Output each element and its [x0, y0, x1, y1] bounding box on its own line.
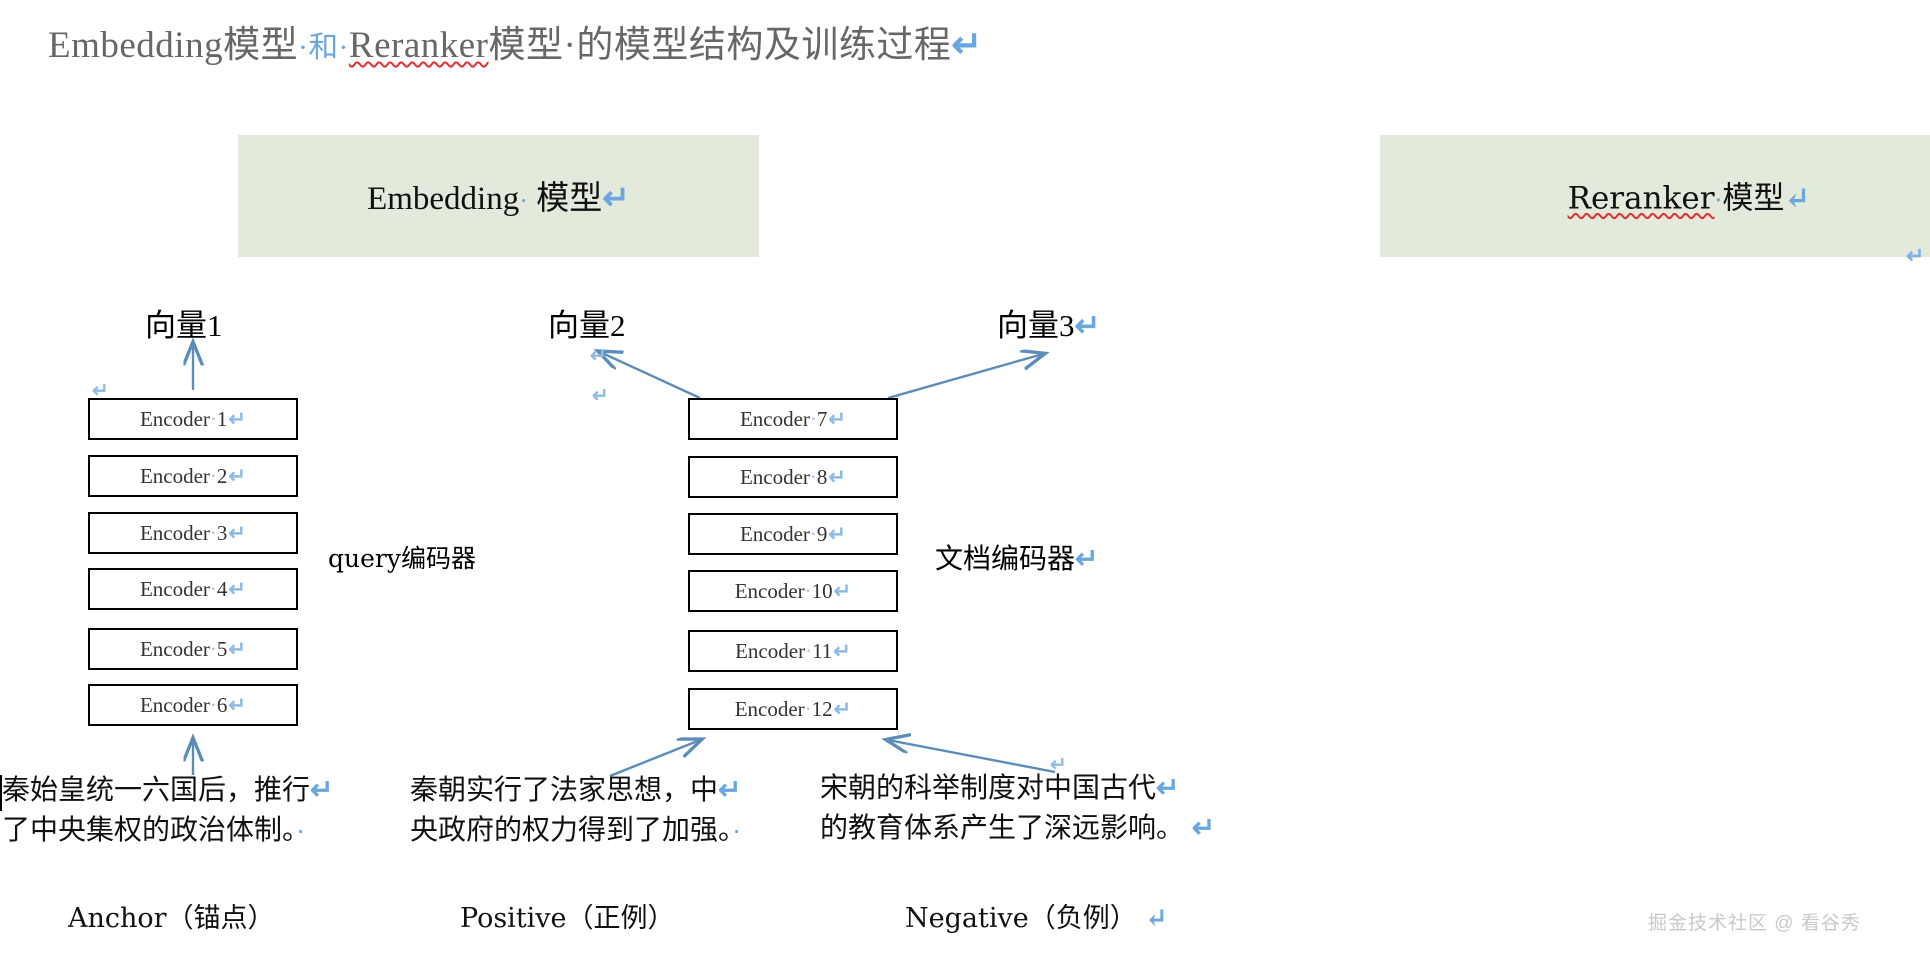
- stray-pilcrow-icon-c: ↵: [592, 383, 609, 408]
- encoder-8-num: 8: [817, 465, 828, 490]
- role-label-negative: Negative（负例） ↵: [905, 896, 1168, 935]
- reranker-trailing-pilcrow-icon: ↵: [1906, 243, 1924, 269]
- title-misspelled-word: Reranker: [349, 25, 489, 66]
- encoder-11-label: Encoder: [735, 639, 805, 664]
- watermark: 掘金技术社区 @ 看谷秀: [1648, 908, 1861, 935]
- doc-encoder-caption: 文档编码器↵: [935, 537, 1098, 577]
- reranker-name: Reranker: [1568, 181, 1715, 217]
- encoder-block-12[interactable]: Encoder·12↵: [688, 688, 898, 730]
- encoder-block-8[interactable]: Encoder·8↵: [688, 456, 898, 498]
- encoder-11-sep: ·: [805, 639, 812, 664]
- encoder-12-num: 12: [812, 697, 833, 722]
- encoder-10-label: Encoder: [735, 579, 805, 604]
- encoder-1-pilcrow-icon: ↵: [228, 407, 246, 432]
- positive-line-1-pilcrow-icon: ↵: [718, 774, 741, 805]
- vector-2-text: 向量2: [548, 308, 626, 343]
- embedding-model-panel: Embedding· 模型↵: [238, 135, 759, 257]
- anchor-line-1-pilcrow-icon: ↵: [310, 774, 333, 805]
- role-negative-pilcrow-icon: ↵: [1145, 903, 1168, 934]
- doc-encoder-caption-pilcrow-icon: ↵: [1075, 544, 1098, 575]
- encoder-block-3[interactable]: Encoder·3↵: [88, 512, 298, 554]
- embedding-model-label: Embedding· 模型↵: [238, 171, 759, 219]
- encoder-1-sep: ·: [210, 407, 217, 432]
- positive-line-2: 央政府的权力得到了加强。·: [410, 810, 741, 850]
- embedding-suffix: 模型: [536, 181, 602, 217]
- embedding-pilcrow-icon: ↵: [602, 181, 630, 217]
- anchor-line-2-space-icon: ·: [296, 814, 305, 845]
- encoder-12-sep: ·: [805, 697, 812, 722]
- sample-text-negative[interactable]: 宋朝的科举制度对中国古代↵ 的教育体系产生了深远影响。 ↵: [820, 768, 1215, 848]
- encoder-6-label: Encoder: [140, 693, 210, 718]
- query-encoder-caption: query编码器: [328, 539, 476, 575]
- encoder-block-10[interactable]: Encoder·10↵: [688, 570, 898, 612]
- vector-label-2: 向量2: [548, 300, 626, 345]
- encoder-6-pilcrow-icon: ↵: [228, 693, 246, 718]
- title-tail: 的模型结构及训练过程: [576, 25, 951, 66]
- encoder-3-pilcrow-icon: ↵: [228, 521, 246, 546]
- encoder-10-num: 10: [812, 579, 833, 604]
- embedding-name: Embedding: [367, 181, 519, 217]
- vector-3-text: 向量3: [997, 308, 1075, 343]
- negative-line-1-pilcrow-icon: ↵: [1156, 772, 1179, 803]
- title-prefix: Embedding模型: [48, 25, 298, 66]
- arrow-encoder7-to-vector3: [888, 354, 1043, 398]
- negative-line-2-text: 的教育体系产生了深远影响。: [820, 812, 1184, 843]
- encoder-4-label: Encoder: [140, 577, 210, 602]
- encoder-block-11[interactable]: Encoder·11↵: [688, 630, 898, 672]
- encoder-9-pilcrow-icon: ↵: [828, 522, 846, 547]
- title-separator-1: ·和·: [298, 32, 349, 64]
- encoder-5-label: Encoder: [140, 637, 210, 662]
- encoder-10-sep: ·: [805, 579, 812, 604]
- encoder-10-pilcrow-icon: ↵: [834, 579, 852, 604]
- encoder-7-pilcrow-icon: ↵: [828, 407, 846, 432]
- encoder-5-pilcrow-icon: ↵: [228, 637, 246, 662]
- positive-line-2-space-icon: ·: [732, 814, 741, 845]
- query-encoder-caption-text: query编码器: [328, 544, 476, 573]
- positive-line-1-text: 秦朝实行了法家思想，中: [410, 774, 718, 805]
- encoder-4-sep: ·: [210, 577, 217, 602]
- role-anchor-text: Anchor（锚点）: [68, 903, 275, 934]
- positive-line-1: 秦朝实行了法家思想，中↵: [410, 770, 741, 810]
- page-title: Embedding模型·和·Reranker模型·的模型结构及训练过程↵: [48, 14, 983, 68]
- encoder-3-num: 3: [217, 521, 228, 546]
- encoder-block-7[interactable]: Encoder·7↵: [688, 398, 898, 440]
- vector-label-3: 向量3↵: [997, 300, 1100, 345]
- encoder-block-1[interactable]: Encoder·1↵: [88, 398, 298, 440]
- reranker-pilcrow-icon: ↵: [1784, 181, 1810, 217]
- encoder-6-num: 6: [217, 693, 228, 718]
- encoder-1-num: 1: [217, 407, 228, 432]
- anchor-line-2-text: 了中央集权的政治体制。: [2, 814, 296, 845]
- sample-text-anchor[interactable]: 秦始皇统一六国后，推行↵ 了中央集权的政治体制。·: [2, 770, 333, 850]
- title-pilcrow-icon: ↵: [951, 25, 983, 66]
- negative-line-2-pilcrow-icon: ↵: [1192, 812, 1215, 843]
- anchor-line-1-text: 秦始皇统一六国后，推行: [2, 774, 310, 805]
- encoder-9-num: 9: [817, 522, 828, 547]
- encoder-8-label: Encoder: [740, 465, 810, 490]
- encoder-1-label: Encoder: [140, 407, 210, 432]
- role-positive-text: Positive（正例）: [460, 903, 675, 934]
- encoder-block-4[interactable]: Encoder·4↵: [88, 568, 298, 610]
- arrow-encoder7-to-vector2: [600, 352, 700, 398]
- reranker-model-label: Reranker·模型↵: [1380, 173, 1930, 218]
- encoder-block-2[interactable]: Encoder·2↵: [88, 455, 298, 497]
- vector-1-text: 向量1: [145, 308, 223, 343]
- encoder-3-sep: ·: [210, 521, 217, 546]
- positive-line-2-text: 央政府的权力得到了加强。: [410, 814, 732, 845]
- role-label-positive: Positive（正例）: [460, 896, 675, 935]
- encoder-9-sep: ·: [810, 522, 817, 547]
- negative-line-1: 宋朝的科举制度对中国古代↵: [820, 768, 1215, 808]
- encoder-4-num: 4: [217, 577, 228, 602]
- encoder-2-num: 2: [217, 464, 228, 489]
- reranker-model-panel: Reranker·模型↵: [1380, 135, 1930, 257]
- role-label-anchor: Anchor（锚点）: [68, 896, 275, 935]
- encoder-2-pilcrow-icon: ↵: [228, 464, 246, 489]
- vector-3-pilcrow-icon: ↵: [1075, 308, 1101, 343]
- encoder-3-label: Encoder: [140, 521, 210, 546]
- encoder-2-sep: ·: [210, 464, 217, 489]
- encoder-block-9[interactable]: Encoder·9↵: [688, 513, 898, 555]
- encoder-9-label: Encoder: [740, 522, 810, 547]
- anchor-line-2: 了中央集权的政治体制。·: [2, 810, 333, 850]
- negative-line-1-text: 宋朝的科举制度对中国古代: [820, 772, 1156, 803]
- encoder-5-sep: ·: [210, 637, 217, 662]
- stray-pilcrow-icon-a: ↵: [92, 378, 109, 403]
- encoder-7-label: Encoder: [740, 407, 810, 432]
- encoder-block-5[interactable]: Encoder·5↵: [88, 628, 298, 670]
- embedding-separator: ·: [519, 185, 528, 215]
- stray-pilcrow-icon-b: ↵: [590, 343, 607, 368]
- encoder-7-num: 7: [817, 407, 828, 432]
- encoder-8-sep: ·: [810, 465, 817, 490]
- reranker-suffix: 模型: [1722, 181, 1784, 217]
- role-negative-text: Negative（负例）: [905, 903, 1137, 934]
- doc-encoder-caption-text: 文档编码器: [935, 544, 1075, 575]
- encoder-2-label: Encoder: [140, 464, 210, 489]
- encoder-11-num: 11: [812, 639, 832, 664]
- encoder-block-6[interactable]: Encoder·6↵: [88, 684, 298, 726]
- sample-text-positive[interactable]: 秦朝实行了法家思想，中↵ 央政府的权力得到了加强。·: [410, 770, 741, 850]
- encoder-8-pilcrow-icon: ↵: [828, 465, 846, 490]
- encoder-12-label: Encoder: [735, 697, 805, 722]
- anchor-line-1: 秦始皇统一六国后，推行↵: [2, 770, 333, 810]
- title-suffix: 模型·: [489, 25, 577, 66]
- encoder-5-num: 5: [217, 637, 228, 662]
- encoder-6-sep: ·: [210, 693, 217, 718]
- vector-label-1: 向量1: [145, 300, 223, 345]
- document-canvas: Embedding模型·和·Reranker模型·的模型结构及训练过程↵ Emb…: [0, 0, 1930, 966]
- encoder-11-pilcrow-icon: ↵: [833, 639, 851, 664]
- encoder-4-pilcrow-icon: ↵: [228, 577, 246, 602]
- encoder-7-sep: ·: [810, 407, 817, 432]
- encoder-12-pilcrow-icon: ↵: [834, 697, 852, 722]
- negative-line-2: 的教育体系产生了深远影响。 ↵: [820, 808, 1215, 848]
